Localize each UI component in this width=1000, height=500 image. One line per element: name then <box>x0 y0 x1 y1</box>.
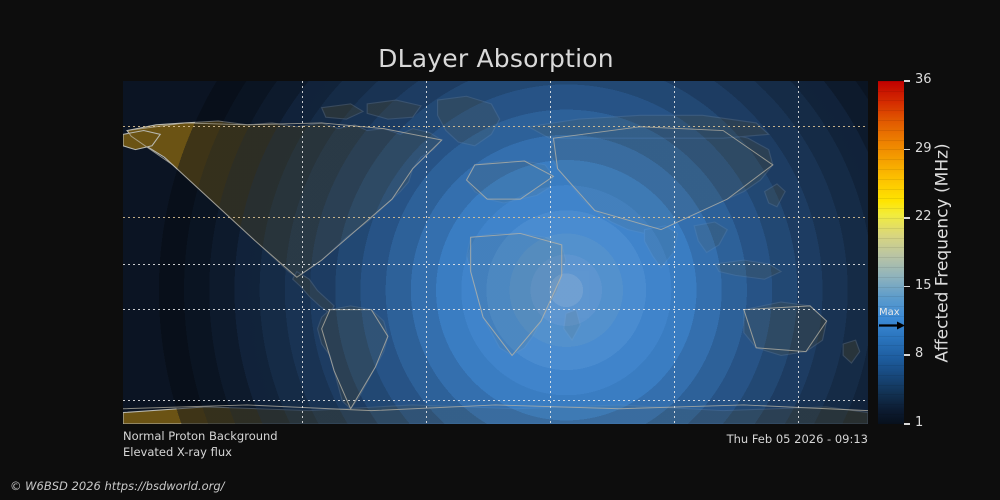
tick-label: 1 <box>915 415 923 430</box>
tick-dash <box>904 354 910 356</box>
tick-label: 8 <box>915 346 923 361</box>
tick-label: 15 <box>915 278 932 293</box>
chart-title-text: DLayer Absorption <box>378 44 614 73</box>
status-line-xray: Elevated X-ray flux <box>123 445 278 461</box>
world-map-axes[interactable] <box>123 81 868 424</box>
tick-label: 36 <box>915 72 932 87</box>
tick-label: 22 <box>915 209 932 224</box>
figure-canvas: DLayer Absorption <box>0 0 1000 500</box>
tick-dash <box>904 80 910 82</box>
colorbar-axis-title: Affected Frequency (MHz) <box>932 81 954 424</box>
credit-label: © W6BSD 2026 https://bsdworld.org/ <box>10 479 225 493</box>
tick-dash <box>904 286 910 288</box>
timestamp-label: Thu Feb 05 2026 - 09:13 <box>0 432 868 446</box>
colorbar[interactable] <box>878 81 904 424</box>
tick-dash <box>904 217 910 219</box>
colorbar-discrete-bands <box>878 81 904 424</box>
page-title: DLayer Absorption <box>0 44 1000 73</box>
tick-dash <box>904 423 910 425</box>
tick-dash <box>904 149 910 151</box>
colorbar-axis-title-text: Affected Frequency (MHz) <box>933 143 953 362</box>
tick-label: 29 <box>915 141 932 156</box>
coastline-overlay <box>123 81 868 424</box>
